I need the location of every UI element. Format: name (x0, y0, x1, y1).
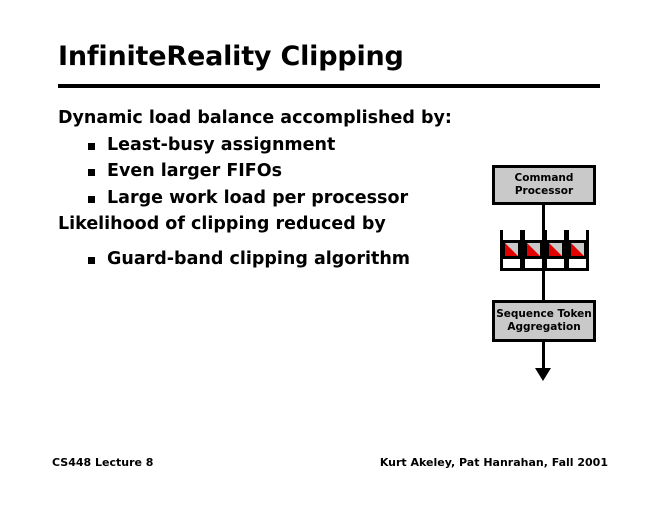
body-heading-1: Dynamic load balance accomplished by: (58, 110, 478, 128)
sequence-token-line2: Aggregation (507, 321, 580, 334)
square-bullet-icon (88, 169, 95, 176)
slide-body: Dynamic load balance accomplished by: Le… (58, 110, 478, 277)
square-bullet-icon (88, 143, 95, 150)
arrow-down-icon (535, 368, 551, 381)
list-item: Large work load per processor (58, 190, 478, 208)
command-processor-line2: Processor (515, 185, 573, 198)
footer-lecture-label: CS448 Lecture 8 (52, 456, 153, 469)
list-item-label: Large work load per processor (107, 188, 408, 208)
fifo-token-3 (546, 240, 565, 259)
list-item-label: Least-busy assignment (107, 135, 335, 155)
fifo-token-2 (524, 240, 543, 259)
title-divider (58, 84, 600, 88)
fifo-token-1 (502, 240, 521, 259)
square-bullet-icon (88, 257, 95, 264)
command-processor-line1: Command (515, 172, 574, 185)
list-item: Even larger FIFOs (58, 163, 478, 181)
list-item-label: Even larger FIFOs (107, 161, 282, 181)
fifo-token-4 (568, 240, 587, 259)
list-item: Least-busy assignment (58, 137, 478, 155)
body-heading-2: Likelihood of clipping reduced by (58, 216, 478, 234)
square-bullet-icon (88, 196, 95, 203)
connector-fifos-to-aggregation (542, 270, 545, 301)
diagram-node-sequence-token-aggregation: Sequence Token Aggregation (492, 300, 596, 342)
page-title: InfiniteReality Clipping (58, 41, 404, 72)
connector-command-to-fifos (542, 205, 545, 231)
footer-authors-label: Kurt Akeley, Pat Hanrahan, Fall 2001 (380, 456, 608, 469)
list-item-label: Guard-band clipping algorithm (107, 249, 410, 269)
pipeline-diagram: Command Processor Sequence Token Aggrega… (488, 160, 608, 385)
list-item: Guard-band clipping algorithm (58, 251, 478, 269)
connector-output (542, 342, 545, 371)
diagram-node-command-processor: Command Processor (492, 165, 596, 205)
sequence-token-line1: Sequence Token (496, 308, 592, 321)
